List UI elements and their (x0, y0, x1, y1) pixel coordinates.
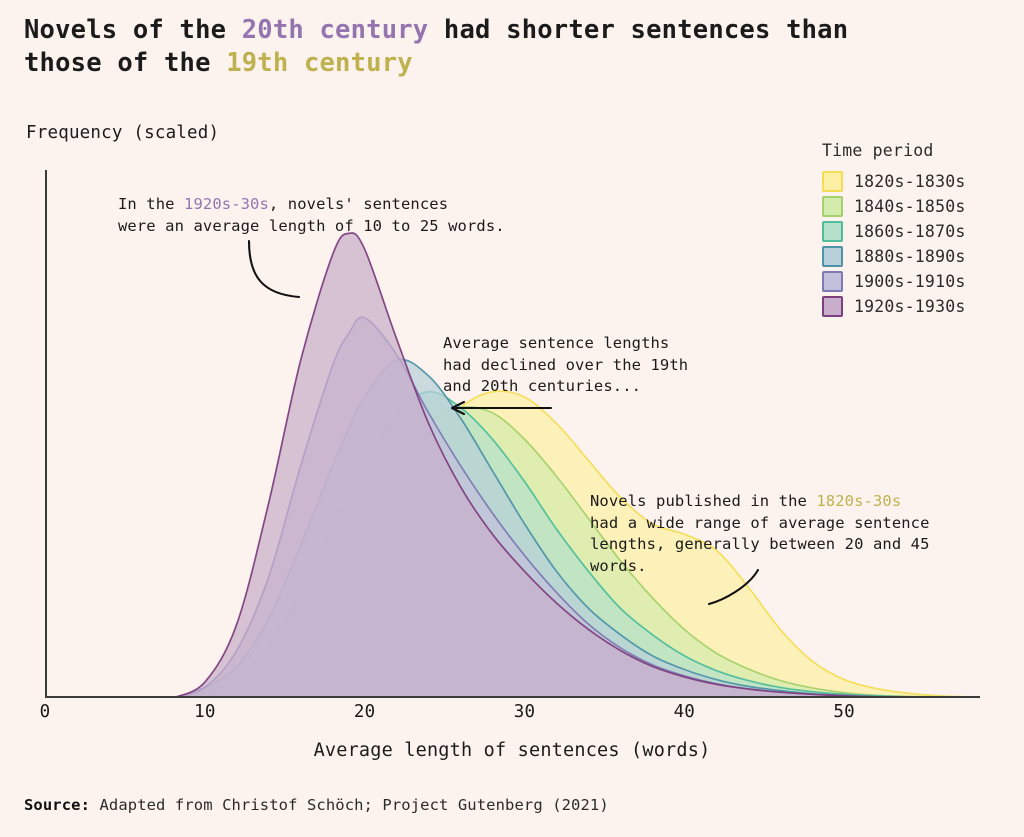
annotation-1820s-line3: lengths, generally between 20 and 45 (590, 535, 930, 553)
legend-item-label: 1920s-1930s (854, 297, 965, 316)
annotation-1920s: In the 1920s-30s, novels' sentences were… (118, 194, 505, 237)
legend-item-label: 1820s-1830s (854, 172, 965, 191)
annotation-1820s-line2: had a wide range of average sentence (590, 514, 930, 532)
legend-item[interactable]: 1920s-1930s (822, 294, 965, 319)
x-tick-label: 30 (514, 702, 535, 722)
x-axis-label: Average length of sentences (words) (0, 740, 1024, 761)
title-part-3: those of the (24, 48, 226, 78)
legend-swatch-icon (822, 271, 843, 292)
annotation-1820s: Novels published in the 1820s-30s had a … (590, 491, 930, 577)
annotation-decline-line2: had declined over the 19th (443, 356, 688, 374)
annotation-decline: Average sentence lengths had declined ov… (443, 333, 688, 398)
title-part-1: Novels of the (24, 15, 242, 45)
annotation-1820s-highlight: 1820s-30s (816, 492, 901, 510)
annotation-1820s-part-1: Novels published in the (590, 492, 816, 510)
legend-swatch-icon (822, 296, 843, 317)
legend-item-label: 1900s-1910s (854, 272, 965, 291)
legend-swatch-icon (822, 196, 843, 217)
annotation-1820s-line4: words. (590, 557, 647, 575)
x-tick-label: 10 (194, 702, 215, 722)
legend-item[interactable]: 1860s-1870s (822, 219, 965, 244)
legend-item[interactable]: 1880s-1890s (822, 244, 965, 269)
y-axis-label: Frequency (scaled) (26, 123, 219, 143)
x-tick-label: 50 (833, 702, 854, 722)
title-highlight-20th: 20th century (242, 15, 429, 45)
legend-item-label: 1880s-1890s (854, 247, 965, 266)
source-prefix: Source: (24, 796, 90, 814)
legend-item-label: 1860s-1870s (854, 222, 965, 241)
annotation-1920s-part-2: , novels' sentences (269, 195, 448, 213)
annotation-1920s-part-1: In the (118, 195, 184, 213)
title-part-2: had shorter sentences than (428, 15, 848, 45)
legend-item[interactable]: 1900s-1910s (822, 269, 965, 294)
page-title: Novels of the 20th century had shorter s… (24, 14, 984, 80)
chart-page: Novels of the 20th century had shorter s… (0, 0, 1024, 837)
legend-items: 1820s-1830s1840s-1850s1860s-1870s1880s-1… (822, 169, 965, 319)
source-text: Adapted from Christof Schöch; Project Gu… (90, 796, 609, 814)
y-axis-line (45, 170, 47, 698)
annotation-decline-line1: Average sentence lengths (443, 334, 669, 352)
source-note: Source: Adapted from Christof Schöch; Pr… (24, 796, 609, 814)
legend: Time period 1820s-1830s1840s-1850s1860s-… (822, 141, 965, 319)
legend-item[interactable]: 1820s-1830s (822, 169, 965, 194)
legend-item-label: 1840s-1850s (854, 197, 965, 216)
annotation-1920s-highlight: 1920s-30s (184, 195, 269, 213)
title-highlight-19th: 19th century (226, 48, 413, 78)
annotation-1920s-line2: were an average length of 10 to 25 words… (118, 217, 505, 235)
legend-swatch-icon (822, 221, 843, 242)
x-tick-label: 20 (354, 702, 375, 722)
legend-swatch-icon (822, 171, 843, 192)
x-tick-label: 40 (674, 702, 695, 722)
legend-title: Time period (822, 141, 965, 160)
x-axis-ticks: 01020304050 (0, 702, 1024, 732)
x-axis-line (45, 696, 980, 698)
legend-item[interactable]: 1840s-1850s (822, 194, 965, 219)
annotation-decline-line3: and 20th centuries... (443, 377, 641, 395)
x-tick-label: 0 (40, 702, 51, 722)
legend-swatch-icon (822, 246, 843, 267)
